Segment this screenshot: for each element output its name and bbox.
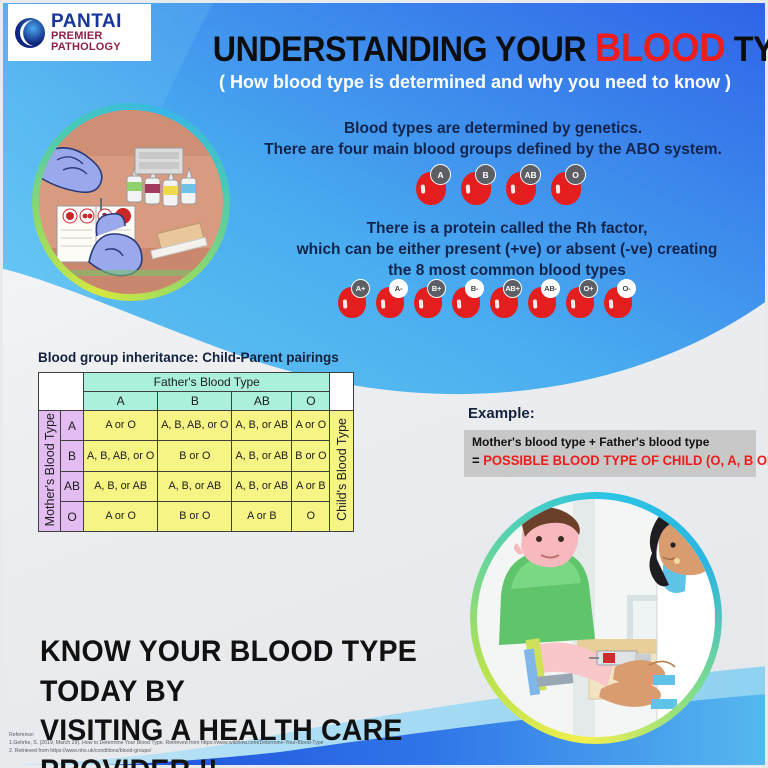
inheritance-cell-b-o: B or O <box>292 441 330 471</box>
blood-type-badge: O <box>565 164 586 185</box>
eight-blood-types-row: A+A-B+B-AB+AB-O+O- <box>338 281 634 319</box>
rh-line-3: the 8 most common blood types <box>252 261 762 282</box>
page-subtitle: ( How blood type is determined and why y… <box>190 72 760 93</box>
blood-draw-photo <box>470 492 722 744</box>
blood-drop-aneg: A- <box>376 281 406 319</box>
example-result-line: = POSSIBLE BLOOD TYPE OF CHILD (O, A, B … <box>472 452 729 468</box>
inheritance-cell-o-ab: A or B <box>232 501 292 531</box>
intro-paragraph: Blood types are determined by genetics. … <box>228 119 758 161</box>
blood-drop-oneg: O- <box>604 281 634 319</box>
blood-type-badge: AB+ <box>503 279 522 298</box>
blood-drop-opos: O+ <box>566 281 596 319</box>
father-type-b: B <box>158 392 232 411</box>
example-parents-line: Mother's blood type + Father's blood typ… <box>472 435 748 449</box>
table-caption: Blood group inheritance: Child-Parent pa… <box>38 350 339 365</box>
blood-type-badge: AB <box>520 164 541 185</box>
mother-type-o: O <box>61 501 84 531</box>
father-type-ab: AB <box>232 392 292 411</box>
blood-type-badge: AB- <box>541 279 560 298</box>
table-row: Mother's Blood TypeAA or OA, B, AB, or O… <box>39 411 354 441</box>
references-block: Reference: 1.Gehrke, S. (2019, March 29)… <box>9 731 324 755</box>
blood-typing-test-photo <box>32 103 230 301</box>
father-type-a: A <box>84 392 158 411</box>
inheritance-cell-o-a: A or O <box>84 501 158 531</box>
blood-drop-o: O <box>551 166 584 206</box>
blood-drop-a: A <box>416 166 449 206</box>
blood-drop-apos: A+ <box>338 281 368 319</box>
inheritance-cell-a-b: A, B, AB, or O <box>158 411 232 441</box>
inheritance-cell-ab-a: A, B, or AB <box>84 471 158 501</box>
table-row: ABA, B, or ABA, B, or ABA, B, or ABA or … <box>39 471 354 501</box>
inheritance-cell-b-b: B or O <box>158 441 232 471</box>
intro-line-2: There are four main blood groups defined… <box>228 140 758 161</box>
blood-type-badge: A+ <box>351 279 370 298</box>
mother-type-ab: AB <box>61 471 84 501</box>
blood-type-badge: A- <box>389 279 408 298</box>
inheritance-cell-ab-b: A, B, or AB <box>158 471 232 501</box>
page-title: UNDERSTANDING YOUR BLOOD TYPES <box>213 26 737 71</box>
inheritance-cell-a-ab: A, B, or AB <box>232 411 292 441</box>
blood-type-badge: O+ <box>579 279 598 298</box>
inheritance-cell-o-o: O <box>292 501 330 531</box>
blood-drop-abpos: AB+ <box>490 281 520 319</box>
inheritance-cell-a-a: A or O <box>84 411 158 441</box>
brand-logo: PANTAI PREMIER PATHOLOGY <box>8 4 151 61</box>
blood-drop-ab: AB <box>506 166 539 206</box>
father-type-o: O <box>292 392 330 411</box>
crescent-circle-logo-icon <box>14 17 46 49</box>
mothers-blood-type-header: Mother's Blood Type <box>39 411 61 532</box>
blood-inheritance-table: Father's Blood Type ABABO Mother's Blood… <box>38 372 354 532</box>
fathers-blood-type-header: Father's Blood Type <box>84 373 330 392</box>
table-row: BA, B, AB, or OB or OA, B, or ABB or O <box>39 441 354 471</box>
blood-type-badge: B- <box>465 279 484 298</box>
cta-line-1: KNOW YOUR BLOOD TYPE TODAY BY <box>40 632 439 711</box>
table-row: OA or OB or OA or BO <box>39 501 354 531</box>
mother-type-b: B <box>61 441 84 471</box>
table-header-row-1: Father's Blood Type <box>39 373 354 392</box>
blood-type-badge: B <box>475 164 496 185</box>
blood-drop-abneg: AB- <box>528 281 558 319</box>
example-box: Mother's blood type + Father's blood typ… <box>464 430 756 477</box>
example-result-text: POSSIBLE BLOOD TYPE OF CHILD (O, A, B OR… <box>483 452 768 468</box>
inheritance-cell-ab-ab: A, B, or AB <box>232 471 292 501</box>
blood-drop-b: B <box>461 166 494 206</box>
mother-type-a: A <box>61 411 84 441</box>
reference-item-2: 2. Retrieved from https://www.nhs.uk/con… <box>9 747 324 755</box>
inheritance-cell-o-b: B or O <box>158 501 232 531</box>
childs-blood-type-header: Child's Blood Type <box>330 411 354 532</box>
infographic-poster: PANTAI PREMIER PATHOLOGY UNDERSTANDING Y… <box>0 0 768 768</box>
intro-line-1: Blood types are determined by genetics. <box>228 119 758 140</box>
title-part1: UNDERSTANDING YOUR <box>213 30 595 69</box>
corner-blank-cell <box>39 373 84 411</box>
blood-type-badge: A <box>430 164 451 185</box>
rh-paragraph: There is a protein called the Rh factor,… <box>252 219 762 282</box>
reference-item-1: 1.Gehrke, S. (2019, March 29). How to De… <box>9 739 324 747</box>
table-body: Mother's Blood TypeAA or OA, B, AB, or O… <box>39 411 354 532</box>
blood-type-badge: O- <box>617 279 636 298</box>
brand-tagline-line2: PATHOLOGY <box>51 42 122 53</box>
brand-name: PANTAI <box>51 12 122 31</box>
rh-line-1: There is a protein called the Rh factor, <box>252 219 762 240</box>
inheritance-cell-ab-o: A or B <box>292 471 330 501</box>
example-equals-sign: = <box>472 452 483 468</box>
references-heading: Reference: <box>9 731 324 739</box>
blood-drop-bneg: B- <box>452 281 482 319</box>
abo-blood-drop-row: ABABO <box>416 166 584 206</box>
rh-line-2: which can be either present (+ve) or abs… <box>252 240 762 261</box>
blood-inheritance-table-wrapper: Father's Blood Type ABABO Mother's Blood… <box>38 372 354 532</box>
inheritance-cell-b-a: A, B, AB, or O <box>84 441 158 471</box>
example-label: Example: <box>468 405 535 422</box>
blood-type-badge: B+ <box>427 279 446 298</box>
title-part2: TYPES <box>725 30 768 69</box>
child-header-top-blank <box>330 373 354 411</box>
table-header-row-2: ABABO <box>39 392 354 411</box>
blood-drop-bpos: B+ <box>414 281 444 319</box>
title-highlight: BLOOD <box>595 26 726 70</box>
inheritance-cell-b-ab: A, B, or AB <box>232 441 292 471</box>
inheritance-cell-a-o: A or O <box>292 411 330 441</box>
